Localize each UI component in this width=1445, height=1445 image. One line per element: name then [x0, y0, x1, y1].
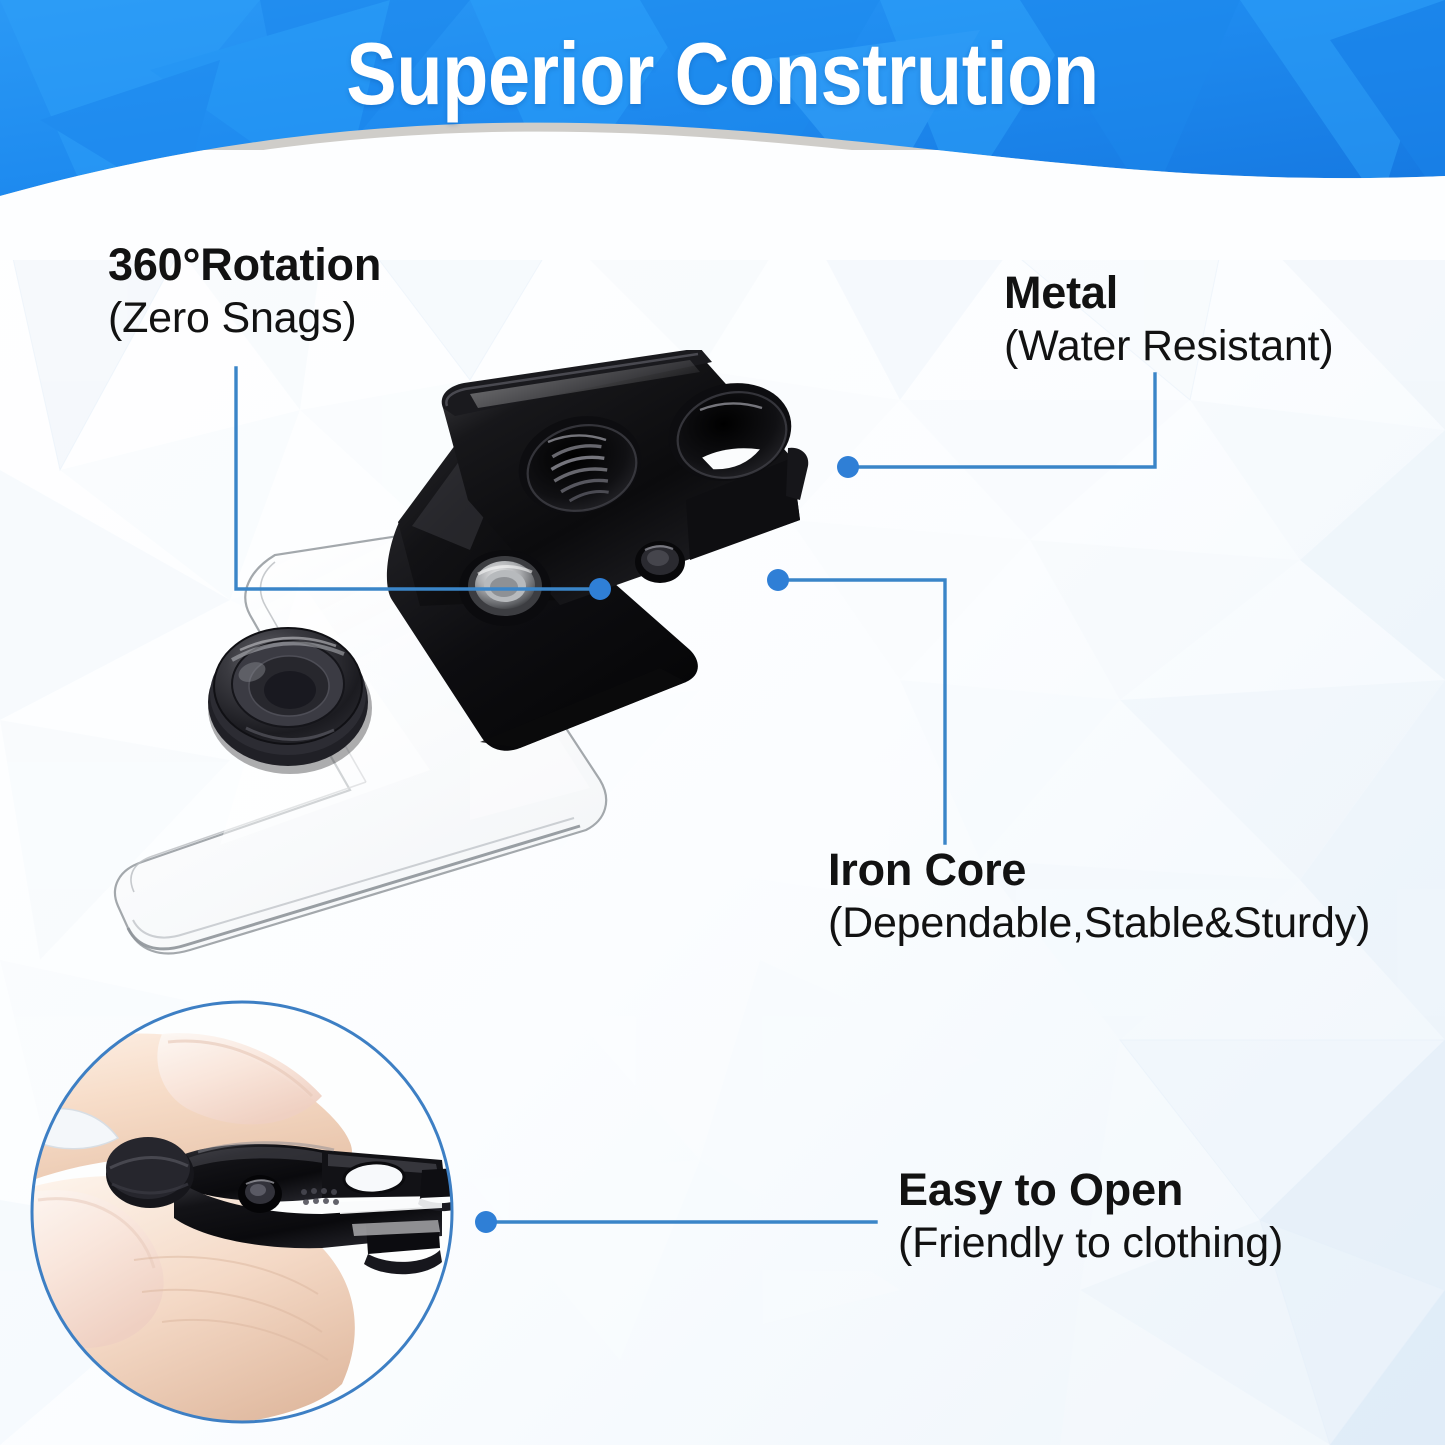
- callout-rotation-subtitle: (Zero Snags): [108, 294, 381, 344]
- callout-metal-title: Metal: [1004, 268, 1334, 318]
- leader-dot-easy-open: [475, 1211, 497, 1233]
- callout-iron-core: Iron Core (Dependable,Stable&Sturdy): [828, 845, 1370, 949]
- leader-dot-metal: [837, 456, 859, 478]
- callout-iron-core-subtitle: (Dependable,Stable&Sturdy): [828, 899, 1370, 949]
- callout-easy-open-title: Easy to Open: [898, 1165, 1283, 1215]
- callout-rotation: 360°Rotation (Zero Snags): [108, 240, 381, 344]
- callout-easy-open: Easy to Open (Friendly to clothing): [898, 1165, 1283, 1269]
- leader-line-rotation: [236, 368, 596, 589]
- leader-dot-iron-core: [767, 569, 789, 591]
- callout-metal: Metal (Water Resistant): [1004, 268, 1334, 372]
- callout-easy-open-subtitle: (Friendly to clothing): [898, 1219, 1283, 1269]
- callout-rotation-title: 360°Rotation: [108, 240, 381, 290]
- leader-line-iron-core: [782, 580, 945, 843]
- leader-line-metal: [852, 374, 1155, 467]
- callout-iron-core-title: Iron Core: [828, 845, 1370, 895]
- callout-metal-subtitle: (Water Resistant): [1004, 322, 1334, 372]
- infographic-page: Superior Constrution: [0, 0, 1445, 1445]
- leader-dot-rotation: [589, 578, 611, 600]
